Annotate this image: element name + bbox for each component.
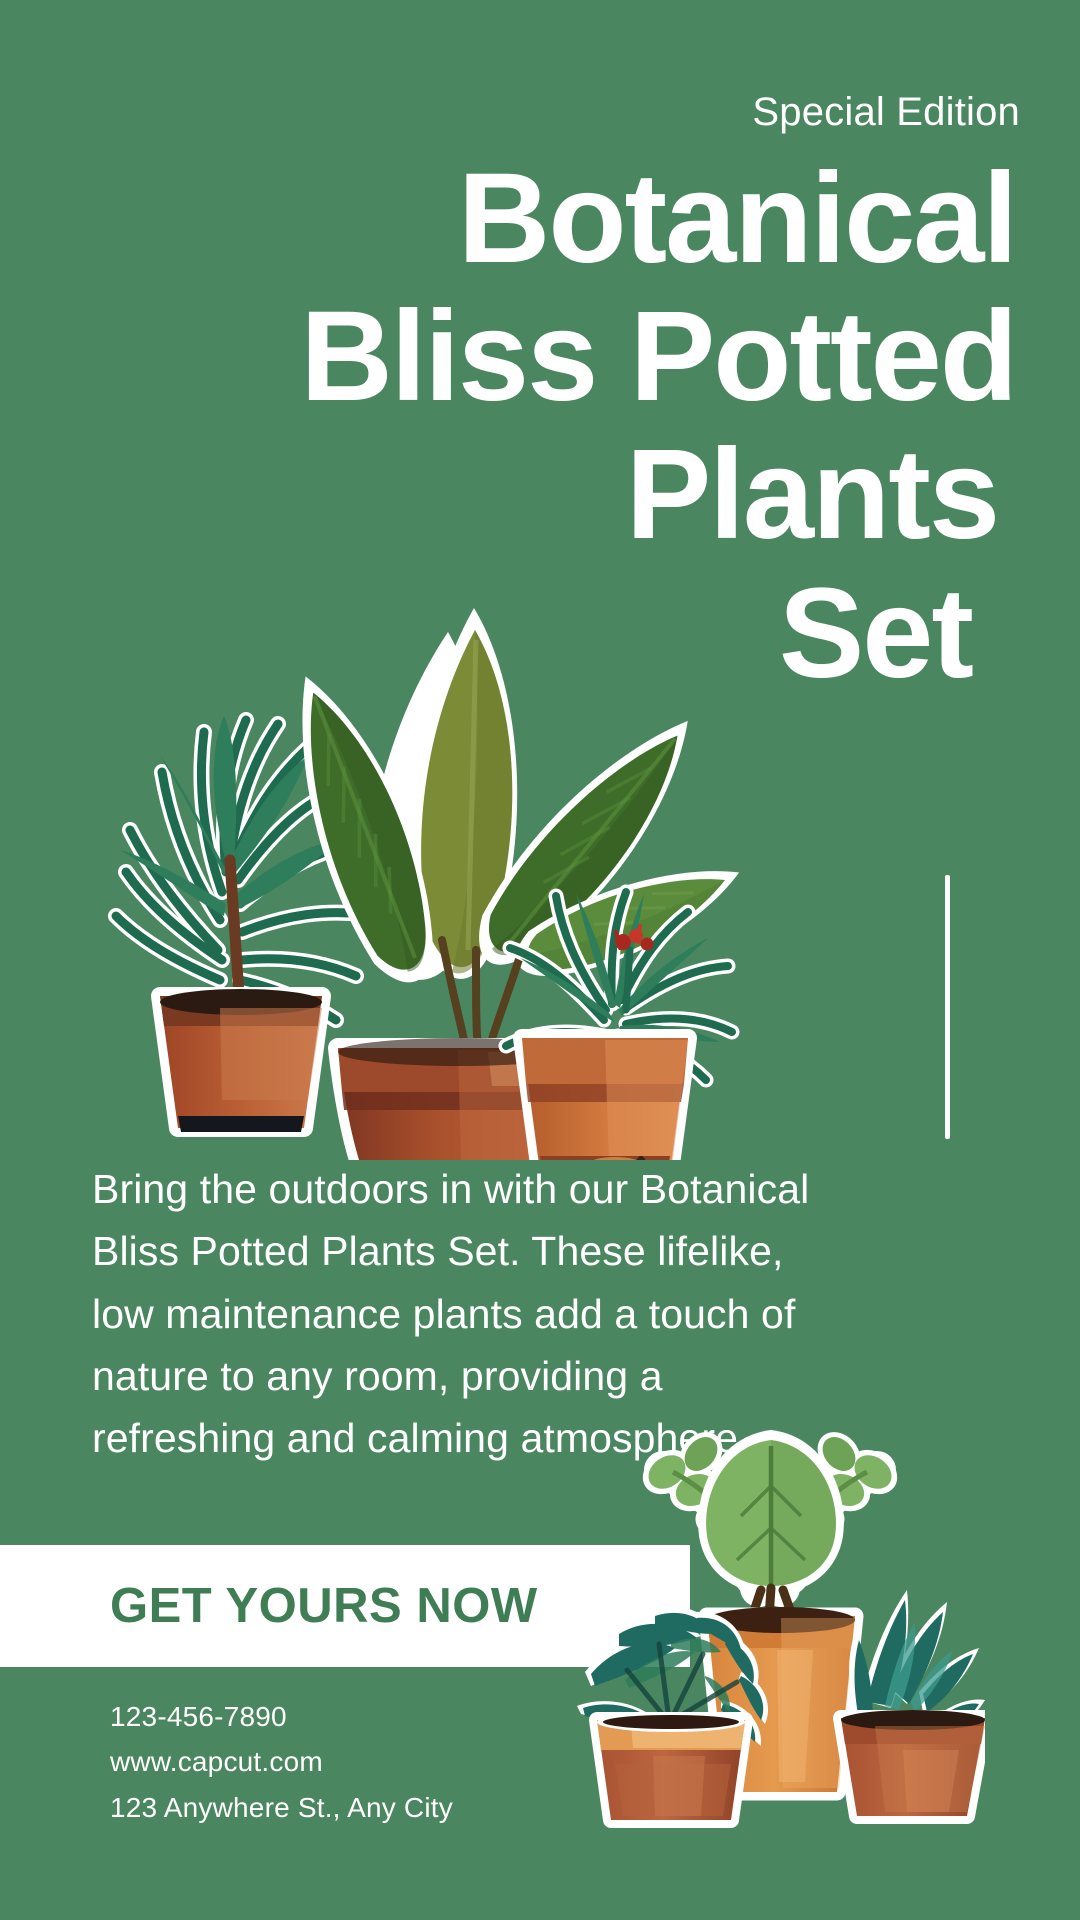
eyebrow-label: Special Edition [752, 92, 1020, 132]
center-foliage [634, 1423, 906, 1620]
poster-canvas: Special Edition Botanical Bliss Potted P… [0, 0, 1080, 1920]
footer-address: 123 Anywhere St., Any City [110, 1785, 453, 1830]
left-small-plant [577, 1606, 768, 1820]
headline-line-1: Botanical [60, 150, 1016, 288]
potted-plants-illustration [70, 480, 750, 1160]
cta-label[interactable]: GET YOURS NOW [110, 1582, 538, 1631]
small-potted-plants-illustration [555, 1420, 985, 1830]
headline-line-2: Bliss Potted [60, 288, 1016, 426]
footer-phone[interactable]: 123-456-7890 [110, 1694, 453, 1739]
footer-contact: 123-456-7890 www.capcut.com 123 Anywhere… [110, 1694, 453, 1830]
footer-website[interactable]: www.capcut.com [110, 1739, 453, 1784]
vertical-divider [945, 875, 950, 1139]
